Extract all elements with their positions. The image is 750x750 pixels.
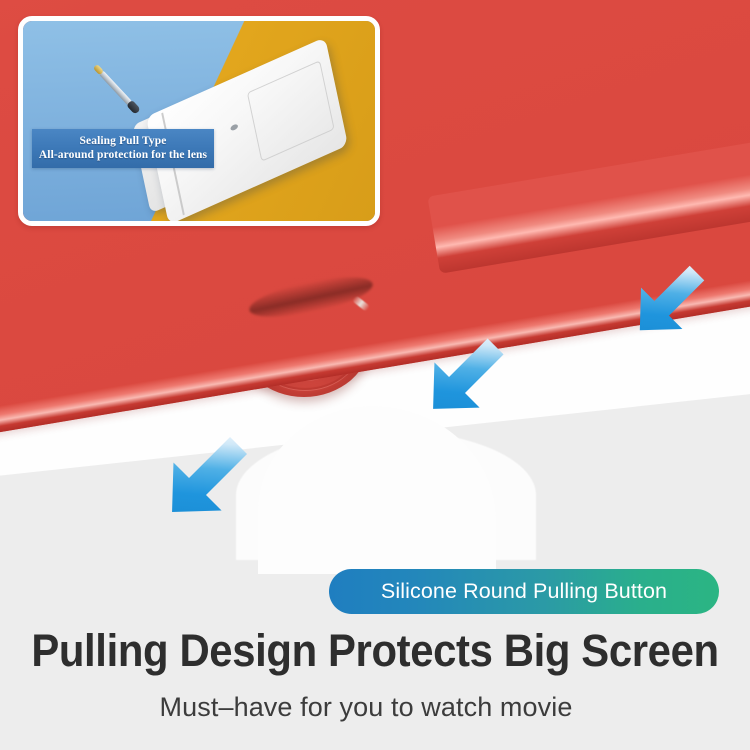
- inset-photo-frame: Sealing Pull Type All-around protection …: [18, 16, 380, 226]
- pull-direction-arrow-3: [156, 428, 256, 528]
- inset-camera-lens: [230, 123, 238, 131]
- pull-direction-arrow-1: [626, 258, 712, 344]
- promo-banner: Sealing Pull Type All-around protection …: [0, 0, 750, 750]
- feature-badge-label: Silicone Round Pulling Button: [381, 579, 667, 604]
- inset-caption-line-1: Sealing Pull Type: [38, 134, 208, 148]
- subtitle: Must–have for you to watch movie: [0, 692, 750, 723]
- pull-direction-arrow-2: [418, 330, 512, 424]
- inset-caption-line-2: All-around protection for the lens: [38, 148, 208, 162]
- headline: Pulling Design Protects Big Screen: [26, 626, 724, 676]
- inset-caption-banner: Sealing Pull Type All-around protection …: [32, 129, 214, 168]
- inset-case-panel-outline: [247, 61, 335, 163]
- feature-badge: Silicone Round Pulling Button: [329, 569, 719, 614]
